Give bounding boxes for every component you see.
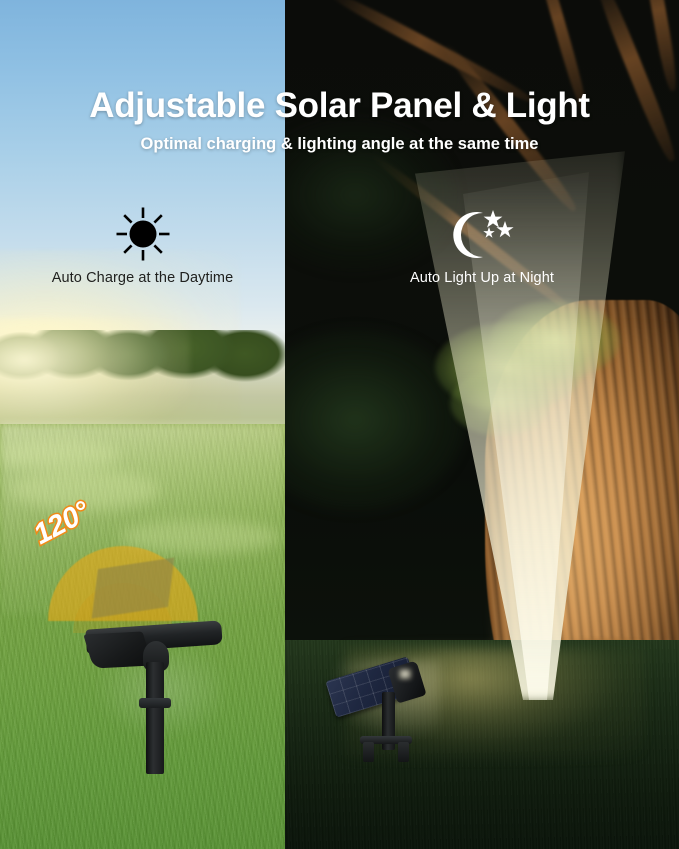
headline: Adjustable Solar Panel & Light bbox=[0, 84, 679, 128]
product-feature-banner: Adjustable Solar Panel & Light Optimal c… bbox=[0, 0, 679, 849]
night-lamp-led-emitter bbox=[398, 668, 412, 680]
day-treeline-glow bbox=[0, 318, 190, 438]
moon-stars-icon-container bbox=[285, 198, 679, 270]
night-feature-block: Auto Light Up at Night bbox=[285, 198, 679, 286]
subheadline: Optimal charging & lighting angle at the… bbox=[0, 133, 679, 155]
day-caption: Auto Charge at the Daytime bbox=[0, 270, 285, 286]
moon-stars-icon bbox=[447, 204, 517, 264]
grass-highlight-patch bbox=[0, 440, 120, 470]
grass-highlight-patch bbox=[10, 470, 160, 510]
night-caption: Auto Light Up at Night bbox=[285, 270, 679, 286]
night-lamp-stake-left bbox=[363, 742, 374, 762]
day-feature-block: Auto Charge at the Daytime bbox=[0, 198, 285, 286]
day-lamp-collar bbox=[139, 698, 171, 708]
sun-icon-container bbox=[0, 198, 285, 270]
day-lamp-stake bbox=[146, 662, 164, 774]
sun-icon bbox=[114, 205, 172, 263]
night-lamp-stake-right bbox=[398, 742, 409, 762]
